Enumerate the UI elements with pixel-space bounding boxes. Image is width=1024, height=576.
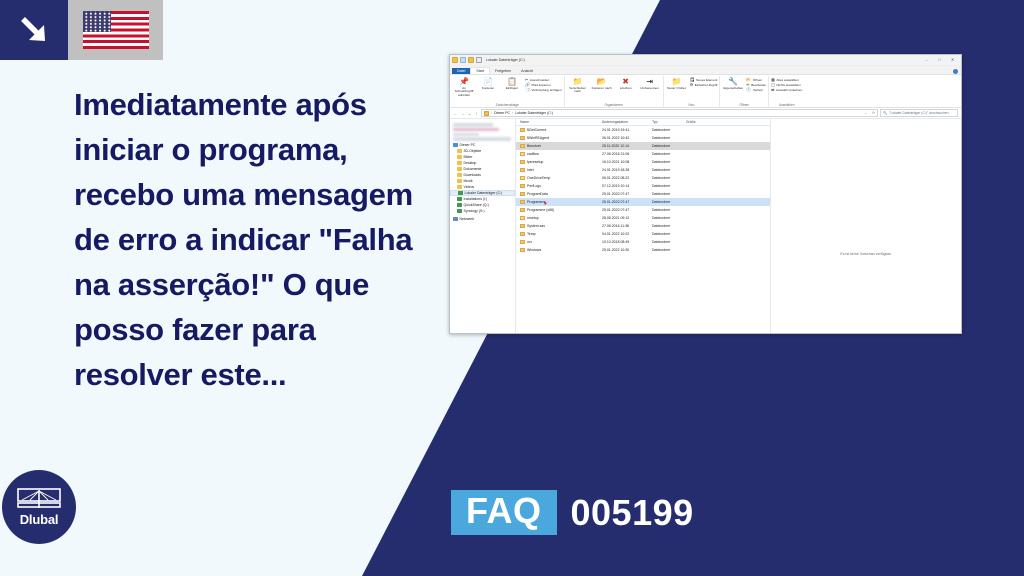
copy-to-button-label: Kopieren nach xyxy=(592,87,612,91)
properties-button[interactable]: 🔧 Eigenschaften xyxy=(722,76,744,90)
folder-icon xyxy=(457,167,462,172)
file-name: Benutzer xyxy=(527,144,541,148)
navigation-pane[interactable]: Dieser PC 3D-Objekte Bilder Desktop Doku… xyxy=(450,119,516,334)
file-date: 16.10.2021 10:08 xyxy=(602,160,652,164)
nav-item-label: Dieser PC xyxy=(460,143,476,147)
file-type: Dateiordner xyxy=(652,136,686,140)
table-row[interactable]: ocr 10.10.2018 08:49 Dateiordner xyxy=(516,238,770,246)
file-type: Dateiordner xyxy=(652,128,686,132)
folder-icon xyxy=(457,179,462,184)
nav-blurred-item[interactable] xyxy=(453,137,511,141)
nav-item-label: Lokaler Datenträger (C:) xyxy=(465,191,503,195)
folder-icon xyxy=(520,184,525,188)
file-date: 27.06.2016 21:06 xyxy=(602,152,652,156)
pc-icon xyxy=(453,143,458,148)
file-date: 25.11.2020 12:14 xyxy=(602,144,652,148)
table-row[interactable]: Intel 24.01.2019 18:28 Dateiordner xyxy=(516,166,770,174)
tab-start[interactable]: Start xyxy=(470,67,490,74)
history-button[interactable]: 🕘 Verlauf xyxy=(746,88,766,92)
nav-item-label: QuickShare (Q:) xyxy=(464,203,489,207)
folder-icon xyxy=(520,200,525,204)
file-type: Dateiordner xyxy=(652,144,686,148)
file-name: Programme xyxy=(527,200,545,204)
easy-access-icon: ⚙ xyxy=(690,83,694,87)
column-header-date[interactable]: Änderungsdatum xyxy=(602,120,652,124)
ribbon-group-auswaehlen: ▦ Alles auswählen ▢ Nichts auswählen ⇄ A… xyxy=(769,76,804,107)
dlubal-logo: Dlubal xyxy=(2,470,76,544)
ribbon-group-label-organisieren: Organisieren xyxy=(567,103,661,108)
nav-item-label: Desktop xyxy=(464,161,477,165)
folder-icon xyxy=(520,136,525,140)
explorer-body: Dieser PC 3D-Objekte Bilder Desktop Doku… xyxy=(450,119,961,334)
move-to-button-label: Verschieben nach xyxy=(567,87,589,94)
address-bar[interactable]: ← → ⌄ ↑ › Dieser PC › Lokaler Datenträge… xyxy=(450,108,961,119)
file-date: 24.01.2019 19:41 xyxy=(602,128,652,132)
table-row[interactable]: Windows 25.01.2022 10:30 Dateiordner xyxy=(516,246,770,254)
table-row[interactable]: Programme 25.01.2022 07:47 Dateiordner xyxy=(516,198,770,206)
invert-selection-icon: ⇄ xyxy=(771,88,774,92)
file-name: System.sav xyxy=(527,224,545,228)
delete-icon: ✖ xyxy=(622,77,629,86)
folder-icon xyxy=(520,192,525,196)
copy-icon: 📄 xyxy=(483,77,493,86)
page-title: Imediatamente após iniciar o programa, r… xyxy=(74,82,424,397)
file-date: 24.01.2019 18:28 xyxy=(602,168,652,172)
breadcrumb-sep-0: › xyxy=(491,111,492,115)
nav-item-label: Netzwerk xyxy=(460,217,475,221)
nav-blurred-item[interactable] xyxy=(453,133,479,137)
table-row[interactable]: Programme (x86) 25.01.2022 07:47 Dateior… xyxy=(516,206,770,214)
open-button-label: Öffnen xyxy=(753,78,762,82)
nav-blurred-item[interactable] xyxy=(453,123,493,127)
tab-datei[interactable]: Datei xyxy=(452,68,470,74)
select-all-button-label: Alles auswählen xyxy=(776,78,798,82)
arrow-down-right-icon xyxy=(0,0,68,60)
faq-label: FAQ xyxy=(451,490,557,535)
quick-access-toolbar[interactable] xyxy=(452,57,482,63)
file-name: nrsetup xyxy=(527,216,539,220)
faq-number: 005199 xyxy=(571,495,694,531)
search-input[interactable]: 🔍 "Lokaler Datenträger (C:)" durchsuchen xyxy=(880,109,958,117)
window-controls[interactable]: – □ ✕ xyxy=(923,56,959,64)
nav-item-label: 3D-Objekte xyxy=(464,149,482,153)
file-name: fpsresetup xyxy=(527,160,543,164)
file-list-header[interactable]: Name Änderungsdatum Typ Größe xyxy=(516,119,770,126)
move-to-icon: 📁 xyxy=(573,77,583,86)
file-date: 25.01.2022 07:47 xyxy=(602,192,652,196)
paste-icon: 📋 xyxy=(507,77,517,86)
easy-access-button[interactable]: ⚙ Einfacher Zugriff xyxy=(690,83,718,87)
preview-message: Es ist keine Vorschau verfügbar. xyxy=(840,252,891,256)
file-name: ocr xyxy=(527,240,532,244)
file-date: 06.01.2022 08:22 xyxy=(602,176,652,180)
folder-icon xyxy=(457,173,462,178)
invert-selection-button-label: Auswahl umkehren xyxy=(776,88,802,92)
ribbon-group-label-auswaehlen: Auswählen xyxy=(771,103,802,108)
new-item-button[interactable]: 🗒 Neues Element xyxy=(690,78,718,82)
file-date: 10.10.2018 08:49 xyxy=(602,240,652,244)
new-folder-button[interactable]: 📁 Neuer Ordner xyxy=(666,76,688,90)
network-icon xyxy=(453,217,458,222)
new-item-button-label: Neues Element xyxy=(696,78,717,82)
file-date: 25.01.2022 10:30 xyxy=(602,248,652,252)
paste-button[interactable]: 📋 Einfügen xyxy=(501,76,523,90)
breadcrumb[interactable]: › Dieser PC › Lokaler Datenträger (C:) ⌄… xyxy=(481,109,878,117)
nav-blurred-item[interactable] xyxy=(453,128,499,132)
top-badge-group xyxy=(0,0,163,60)
file-name: cadflow xyxy=(527,152,539,156)
folder-icon xyxy=(520,176,525,180)
chevron-down-icon[interactable]: ⌄ xyxy=(467,111,472,116)
folder-icon xyxy=(520,208,525,212)
copy-path-button[interactable]: 🔗 Pfad kopieren xyxy=(525,83,562,87)
minimize-button[interactable]: – xyxy=(923,56,930,64)
nav-item-synology-s[interactable]: Synology (S:) xyxy=(450,208,515,214)
close-button[interactable]: ✕ xyxy=(949,56,956,64)
file-type: Dateiordner xyxy=(652,240,686,244)
folder-icon xyxy=(457,155,462,160)
file-explorer-window[interactable]: Lokaler Datenträger (C:) – □ ✕ Datei Sta… xyxy=(449,54,962,334)
file-list[interactable]: Name Änderungsdatum Typ Größe $GetCurren… xyxy=(516,119,771,334)
folder-icon xyxy=(457,161,462,166)
explorer-title-text: Lokaler Datenträger (C:) xyxy=(486,58,525,62)
nav-item-label: Dokumente xyxy=(464,167,482,171)
delete-button[interactable]: ✖ Löschen xyxy=(615,76,637,90)
table-row[interactable]: $GetCurrent 24.01.2019 19:41 Dateiordner xyxy=(516,126,770,134)
paste-shortcut-icon: 📑 xyxy=(525,88,530,92)
delete-button-label: Löschen xyxy=(620,87,632,91)
folder-icon xyxy=(520,216,525,220)
breadcrumb-sep-1: › xyxy=(512,111,513,115)
ribbon-group-label-neu: Neu xyxy=(666,103,718,108)
file-name: $GetCurrent xyxy=(527,128,546,132)
table-row[interactable]: OneDriveTemp 06.01.2022 08:22 Dateiordne… xyxy=(516,174,770,182)
ribbon-tab-bar[interactable]: Datei Start Freigeben Ansicht xyxy=(450,66,961,75)
file-type: Dateiordner xyxy=(652,168,686,172)
drive-icon xyxy=(457,209,462,214)
arrow-left-icon[interactable]: ← xyxy=(453,111,458,116)
file-type: Dateiordner xyxy=(652,216,686,220)
file-name: Programme (x86) xyxy=(527,208,554,212)
us-flag-graphic xyxy=(83,11,149,49)
explorer-title-bar[interactable]: Lokaler Datenträger (C:) – □ ✕ xyxy=(450,55,961,66)
folder-icon xyxy=(457,149,462,154)
ribbon-group-label-zwischenablage: Zwischenablage xyxy=(453,103,562,108)
copy-path-button-label: Pfad kopieren xyxy=(531,83,550,87)
nav-item-netzwerk[interactable]: Netzwerk xyxy=(450,216,515,222)
edit-button-label: Bearbeiten xyxy=(751,83,766,87)
file-name: PerfLogs xyxy=(527,184,541,188)
ribbon-group-organisieren: 📁 Verschieben nach 📂 Kopieren nach ✖ Lös… xyxy=(565,76,664,107)
nav-item-label: Installations (I:) xyxy=(464,197,488,201)
file-type: Dateiordner xyxy=(652,176,686,180)
table-row[interactable]: PerfLogs 07.12.2019 10:14 Dateiordner xyxy=(516,182,770,190)
column-header-type[interactable]: Typ xyxy=(652,120,686,124)
paste-shortcut-button-label: Verknüpfung einfügen xyxy=(531,88,561,92)
refresh-icon[interactable]: ⟳ xyxy=(872,111,875,115)
file-type: Dateiordner xyxy=(652,184,686,188)
help-area[interactable] xyxy=(953,69,961,74)
file-name: Intel xyxy=(527,168,534,172)
ribbon-group-label-oeffnen: Öffnen xyxy=(722,103,766,108)
drive-icon xyxy=(457,197,462,202)
file-name: Windows xyxy=(527,248,541,252)
table-row[interactable]: nrsetup 28.06.2021 09:12 Dateiordner xyxy=(516,214,770,222)
file-type: Dateiordner xyxy=(652,232,686,236)
search-placeholder: "Lokaler Datenträger (C:)" durchsuchen xyxy=(889,111,948,115)
table-row[interactable]: ProgramData 25.01.2022 07:47 Dateiordner xyxy=(516,190,770,198)
folder-icon xyxy=(520,152,525,156)
pin-to-quick-access-button[interactable]: 📌 An Schnellzugriff anheften xyxy=(453,76,475,97)
table-row[interactable]: $WinREAgent 26.01.2022 10:42 Dateiordner xyxy=(516,134,770,142)
file-date: 25.01.2022 07:47 xyxy=(602,200,652,204)
invert-selection-button[interactable]: ⇄ Auswahl umkehren xyxy=(771,88,802,92)
copy-button[interactable]: 📄 Kopieren xyxy=(477,76,499,90)
pin-button-label: An Schnellzugriff anheften xyxy=(453,87,475,98)
file-type: Dateiordner xyxy=(652,248,686,252)
history-button-label: Verlauf xyxy=(753,88,763,92)
table-row[interactable]: cadflow 27.06.2016 21:06 Dateiordner xyxy=(516,150,770,158)
folder-icon xyxy=(520,224,525,228)
maximize-button[interactable]: □ xyxy=(936,56,943,64)
folder-icon xyxy=(520,128,525,132)
folder-icon xyxy=(520,160,525,164)
folder-icon[interactable] xyxy=(452,57,458,63)
nav-item-label: Downloads xyxy=(464,173,481,177)
table-row[interactable]: fpsresetup 16.10.2021 10:08 Dateiordner xyxy=(516,158,770,166)
flag-stars xyxy=(83,11,111,32)
file-name: $WinREAgent xyxy=(527,136,549,140)
tab-ansicht[interactable]: Ansicht xyxy=(516,68,538,74)
nav-item-label: Bilder xyxy=(464,155,473,159)
arrow-up-icon[interactable]: ↑ xyxy=(474,111,479,116)
file-type: Dateiordner xyxy=(652,192,686,196)
nav-item-label: Videos xyxy=(464,185,475,189)
chevron-down-icon[interactable]: ⌄ xyxy=(864,111,867,115)
folder-icon xyxy=(520,232,525,236)
file-type: Dateiordner xyxy=(652,224,686,228)
file-type: Dateiordner xyxy=(652,200,686,204)
new-folder-icon: 📁 xyxy=(672,77,682,86)
file-type: Dateiordner xyxy=(652,208,686,212)
file-date: 07.12.2019 10:14 xyxy=(602,184,652,188)
tab-freigeben[interactable]: Freigeben xyxy=(490,68,516,74)
file-date: 26.01.2022 10:42 xyxy=(602,136,652,140)
search-icon: 🔍 xyxy=(883,111,887,115)
chevron-down-icon[interactable] xyxy=(476,57,482,63)
drive-icon xyxy=(458,191,463,196)
pin-icon: 📌 xyxy=(459,77,469,86)
folder-icon xyxy=(457,185,462,190)
file-name: Temp xyxy=(527,232,536,236)
us-flag-icon xyxy=(68,0,163,60)
copy-to-icon: 📂 xyxy=(597,77,607,86)
rename-button[interactable]: ⇥ Umbenennen xyxy=(639,76,661,90)
nav-item-label: Musik xyxy=(464,179,473,183)
dlubal-logo-text: Dlubal xyxy=(20,512,59,527)
properties-icon[interactable] xyxy=(460,57,466,63)
arrow-right-icon[interactable]: → xyxy=(460,111,465,116)
properties-icon: 🔧 xyxy=(728,77,738,86)
history-icon: 🕘 xyxy=(746,88,751,92)
file-type: Dateiordner xyxy=(652,160,686,164)
select-all-button[interactable]: ▦ Alles auswählen xyxy=(771,78,802,82)
table-row[interactable]: Temp 04.01.2022 10:22 Dateiordner xyxy=(516,230,770,238)
column-header-size[interactable]: Größe xyxy=(686,120,716,124)
new-folder-icon[interactable] xyxy=(468,57,474,63)
paste-button-label: Einfügen xyxy=(506,87,518,91)
ribbon-group-zwischenablage: 📌 An Schnellzugriff anheften 📄 Kopieren … xyxy=(451,76,565,107)
file-date: 28.06.2021 09:12 xyxy=(602,216,652,220)
ribbon-group-oeffnen: 🔧 Eigenschaften 📂 Öffnen ✏ Bearbeiten 🕘 … xyxy=(720,76,769,107)
breadcrumb-item-0[interactable]: Dieser PC xyxy=(494,111,510,115)
copy-to-button[interactable]: 📂 Kopieren nach xyxy=(591,76,613,90)
frame-truss-icon xyxy=(17,488,61,510)
file-date: 27.06.2016 11:38 xyxy=(602,224,652,228)
folder-icon xyxy=(520,144,525,148)
rename-button-label: Umbenennen xyxy=(640,87,659,91)
paste-shortcut-button[interactable]: 📑 Verknüpfung einfügen xyxy=(525,88,562,92)
select-none-button-label: Nichts auswählen xyxy=(776,83,800,87)
rename-icon: ⇥ xyxy=(646,77,653,86)
select-none-button[interactable]: ▢ Nichts auswählen xyxy=(771,83,802,87)
faq-footer: FAQ 005199 xyxy=(451,490,694,535)
new-folder-button-label: Neuer Ordner xyxy=(667,87,686,91)
file-name: ProgramData xyxy=(527,192,548,196)
pc-icon xyxy=(484,111,489,116)
mouse-cursor-icon xyxy=(544,201,547,205)
help-icon[interactable] xyxy=(953,69,958,74)
ribbon-group-neu: 📁 Neuer Ordner 🗒 Neues Element ⚙ Einfach… xyxy=(664,76,721,107)
ribbon[interactable]: 📌 An Schnellzugriff anheften 📄 Kopieren … xyxy=(450,75,961,108)
file-type: Dateiordner xyxy=(652,152,686,156)
file-date: 25.01.2022 07:47 xyxy=(602,208,652,212)
easy-access-button-label: Einfacher Zugriff xyxy=(695,83,718,87)
drive-icon xyxy=(457,203,462,208)
copy-button-label: Kopieren xyxy=(482,87,494,91)
column-header-name[interactable]: Name xyxy=(518,120,602,124)
breadcrumb-item-1[interactable]: Lokaler Datenträger (C:) xyxy=(515,111,553,115)
folder-icon xyxy=(520,248,525,252)
cut-button-label: Ausschneiden xyxy=(530,78,549,82)
move-to-button[interactable]: 📁 Verschieben nach xyxy=(567,76,589,94)
cut-button[interactable]: ✂ Ausschneiden xyxy=(525,78,562,82)
table-row[interactable]: System.sav 27.06.2016 11:38 Dateiordner xyxy=(516,222,770,230)
preview-pane: Es ist keine Vorschau verfügbar. xyxy=(771,119,961,334)
file-date: 04.01.2022 10:22 xyxy=(602,232,652,236)
nav-item-label: Synology (S:) xyxy=(464,209,485,213)
properties-button-label: Eigenschaften xyxy=(724,87,744,91)
table-row[interactable]: Benutzer 25.11.2020 12:14 Dateiordner xyxy=(516,142,770,150)
folder-icon xyxy=(520,240,525,244)
file-name: OneDriveTemp xyxy=(527,176,550,180)
folder-icon xyxy=(520,168,525,172)
